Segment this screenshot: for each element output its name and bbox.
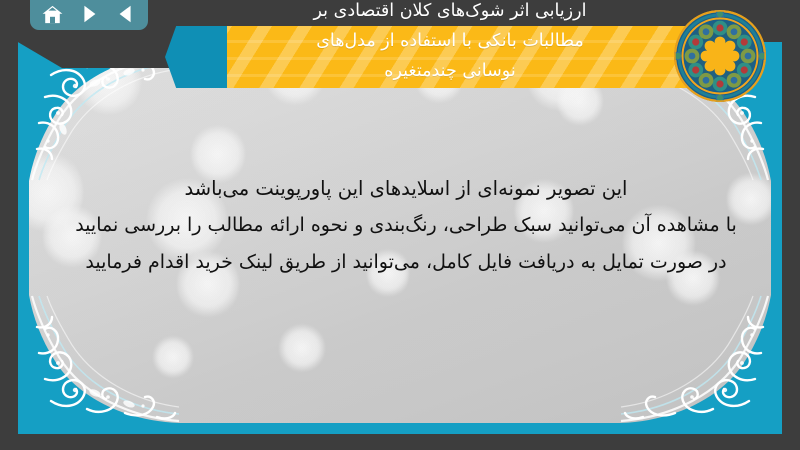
slide-navigation-bar <box>30 0 148 30</box>
slide-canvas[interactable]: این تصویر نمونه‌ای از اسلایدهای این پاور… <box>18 42 782 434</box>
triangle-left-icon <box>115 3 137 25</box>
body-line-2: با مشاهده آن می‌توانید سبک طراحی، رنگ‌بن… <box>58 207 754 244</box>
presentation-stage: این تصویر نمونه‌ای از اسلایدهای این پاور… <box>0 0 800 450</box>
body-line-1: این تصویر نمونه‌ای از اسلایدهای این پاور… <box>58 170 754 207</box>
page-title: ارزیابی اثر شوک‌های کلان اقتصادی بر مطال… <box>200 0 700 86</box>
home-icon <box>41 3 64 26</box>
bokeh-circle <box>279 323 325 373</box>
bokeh-circle <box>153 335 193 379</box>
body-line-3: در صورت تمایل به دریافت فایل کامل، می‌تو… <box>58 244 754 281</box>
slide-body-text: این تصویر نمونه‌ای از اسلایدهای این پاور… <box>58 170 754 281</box>
previous-slide-button[interactable] <box>114 2 138 26</box>
triangle-right-icon <box>78 3 100 25</box>
home-button[interactable] <box>40 2 64 26</box>
persian-medallion-icon <box>672 8 768 104</box>
next-slide-button[interactable] <box>77 2 101 26</box>
